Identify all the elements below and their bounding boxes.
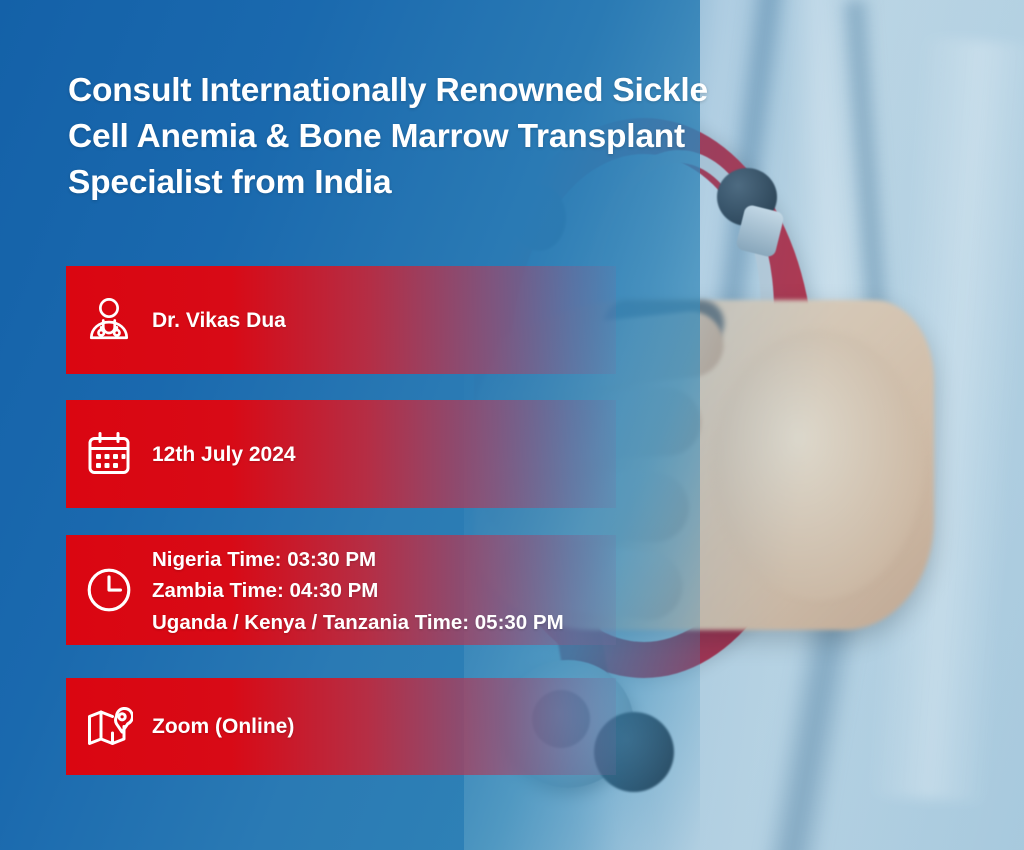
time-line-zambia: Zambia Time: 04:30 PM bbox=[152, 575, 564, 606]
calendar-icon bbox=[66, 430, 152, 478]
promo-poster: Consult Internationally Renowned Sickle … bbox=[0, 0, 1024, 850]
headline-line-3: Specialist from India bbox=[68, 160, 888, 206]
event-date: 12th July 2024 bbox=[152, 444, 296, 465]
doctor-icon bbox=[66, 295, 152, 345]
info-bar-venue: Zoom (Online) bbox=[66, 678, 616, 775]
info-bar-time: Nigeria Time: 03:30 PM Zambia Time: 04:3… bbox=[66, 535, 616, 645]
page-title: Consult Internationally Renowned Sickle … bbox=[68, 68, 888, 207]
speaker-name: Dr. Vikas Dua bbox=[152, 310, 286, 331]
time-line-nigeria: Nigeria Time: 03:30 PM bbox=[152, 544, 564, 575]
time-line-east-africa: Uganda / Kenya / Tanzania Time: 05:30 PM bbox=[152, 607, 564, 638]
map-pin-icon bbox=[66, 703, 152, 751]
info-bar-date: 12th July 2024 bbox=[66, 400, 616, 508]
event-times: Nigeria Time: 03:30 PM Zambia Time: 04:3… bbox=[152, 542, 564, 638]
clock-icon bbox=[66, 565, 152, 615]
headline-line-2: Cell Anemia & Bone Marrow Transplant bbox=[68, 114, 888, 160]
venue-name: Zoom (Online) bbox=[152, 716, 294, 737]
info-bar-speaker: Dr. Vikas Dua bbox=[66, 266, 616, 374]
headline-line-1: Consult Internationally Renowned Sickle bbox=[68, 68, 888, 114]
